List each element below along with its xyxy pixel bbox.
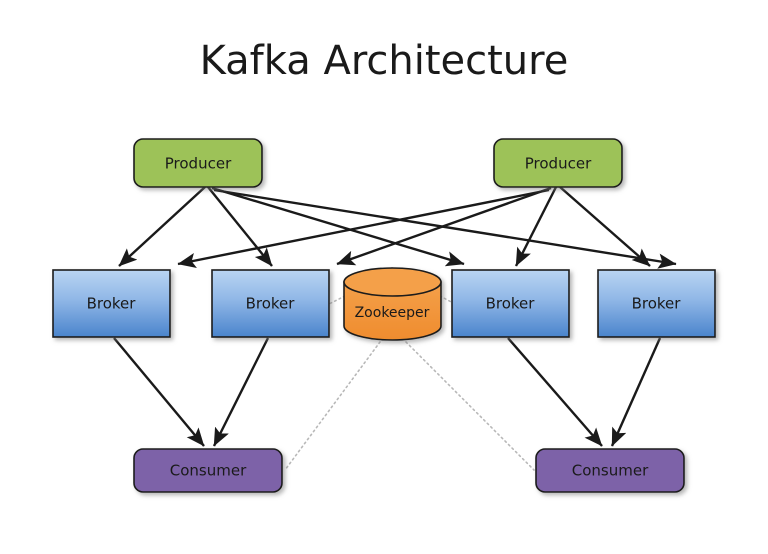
broker-4-label: Broker	[632, 295, 682, 313]
producer-2-label: Producer	[525, 155, 592, 173]
kafka-architecture-diagram: Kafka Architecture	[0, 0, 768, 554]
producer-broker-edges	[119, 187, 676, 266]
zookeeper-label: Zookeeper	[355, 305, 430, 321]
broker-2-label: Broker	[246, 295, 296, 313]
edge-broker-3-consumer-2	[508, 338, 602, 446]
edge-zookeeper-consumer-2	[406, 342, 534, 470]
producer-1-label: Producer	[165, 155, 232, 173]
edge-broker-4-consumer-2	[612, 338, 660, 446]
broker-1-label: Broker	[87, 295, 137, 313]
diagram-canvas: Producer Producer Broker Broker Broker B…	[0, 0, 768, 554]
broker-3-label: Broker	[486, 295, 536, 313]
edge-broker-1-consumer-1	[114, 338, 204, 446]
consumer-1-label: Consumer	[170, 462, 247, 480]
edge-producer-1-broker-3	[212, 188, 464, 264]
edge-producer-1-broker-1	[119, 187, 205, 266]
edge-zookeeper-broker-2	[329, 296, 345, 304]
edge-broker-2-consumer-1	[214, 338, 268, 446]
zookeeper-node[interactable]	[344, 268, 441, 340]
broker-consumer-edges	[114, 338, 660, 446]
edge-producer-2-broker-4	[560, 187, 650, 266]
edge-zookeeper-consumer-1	[285, 342, 380, 470]
consumer-2-label: Consumer	[572, 462, 649, 480]
edge-producer-2-broker-1	[178, 190, 549, 264]
database-icon-top[interactable]	[344, 268, 441, 296]
